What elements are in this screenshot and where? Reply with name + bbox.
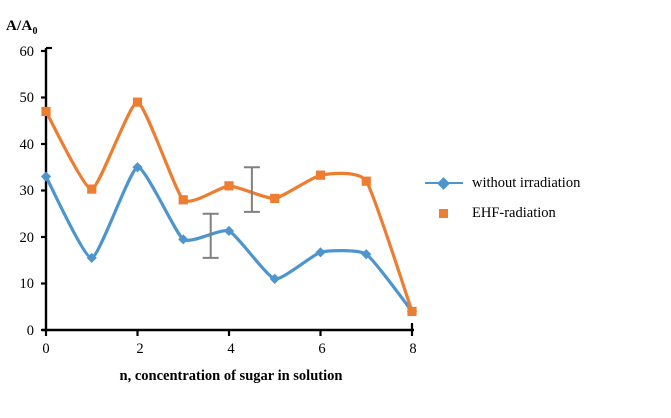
legend-key-line-diamond-icon [425,176,463,190]
data-point-marker [362,177,371,186]
legend-item-ehf-radiation[interactable]: EHF-radiation [425,198,580,228]
data-point-marker [179,195,188,204]
chart-root: A/A0 n, concentration of sugar in soluti… [0,0,671,418]
data-point-marker [316,171,325,180]
legend-label: EHF-radiation [472,205,556,222]
data-point-marker [87,185,96,194]
legend-key-square-icon [425,206,463,220]
data-point-marker [270,194,279,203]
legend-label: without irradiation [472,175,580,192]
data-point-marker [41,107,50,116]
data-point-marker [133,98,142,107]
legend: without irradiation EHF-radiation [425,168,580,228]
data-point-marker [407,307,416,316]
series-line-ehf-radiation [46,102,412,311]
legend-item-without-irradiation[interactable]: without irradiation [425,168,580,198]
data-point-marker [224,181,233,190]
